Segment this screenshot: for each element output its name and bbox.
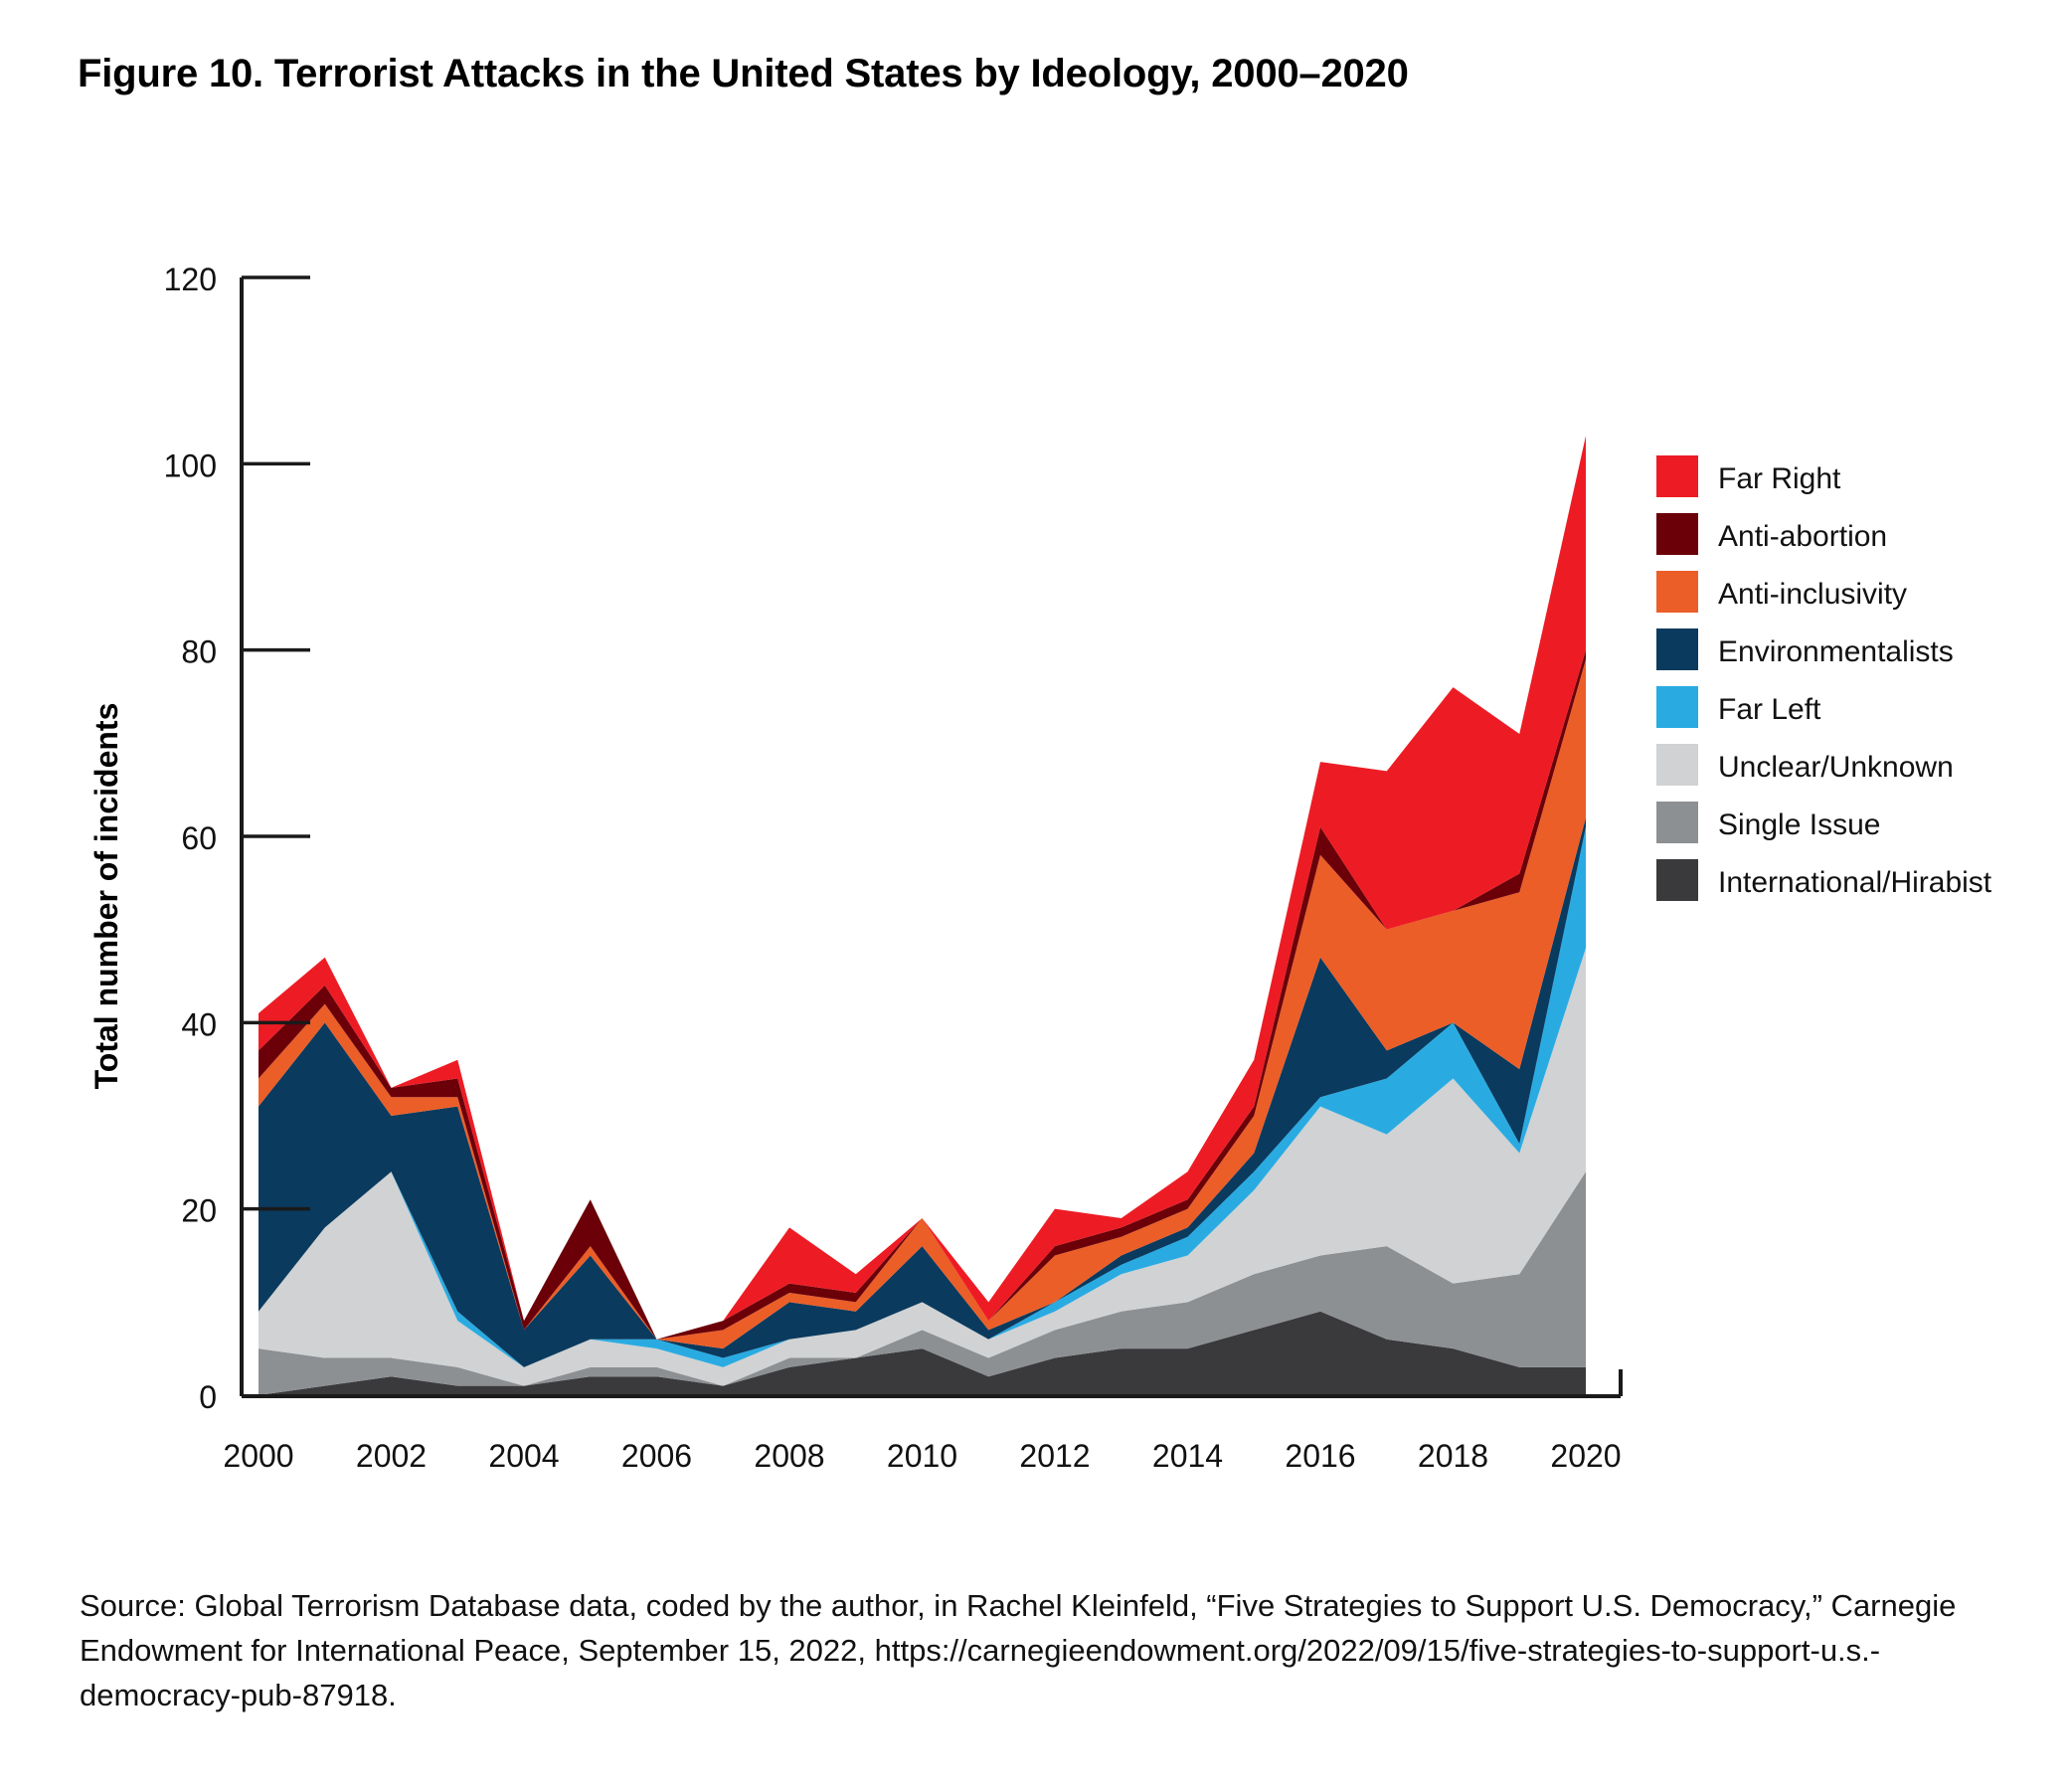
- legend-swatch: [1656, 513, 1698, 555]
- chart-series-layer: [259, 436, 1586, 1395]
- legend-item-label: Anti-abortion: [1718, 520, 1887, 553]
- x-axis-tick-label: 2000: [223, 1438, 293, 1474]
- legend-item-label: Anti-inclusivity: [1718, 578, 1907, 611]
- legend-swatch: [1656, 628, 1698, 670]
- x-axis-tick-label: 2008: [754, 1438, 824, 1474]
- y-axis-tick-label: 20: [181, 1193, 217, 1229]
- y-axis-tick-label: 60: [181, 820, 217, 856]
- x-axis-tick-label: 2002: [356, 1438, 427, 1474]
- legend-swatch: [1656, 802, 1698, 843]
- y-axis-tick-label: 40: [181, 1006, 217, 1042]
- y-axis-tick-label: 80: [181, 634, 217, 670]
- y-axis-tick-label: 0: [199, 1379, 217, 1415]
- x-axis-tick-label: 2016: [1285, 1438, 1355, 1474]
- source-note: Source: Global Terrorism Database data, …: [80, 1583, 2008, 1717]
- legend-swatch: [1656, 859, 1698, 901]
- x-axis-tick-label: 2006: [621, 1438, 692, 1474]
- legend-item-label: Environmentalists: [1718, 635, 1954, 668]
- legend-item-label: Far Right: [1718, 462, 1841, 495]
- stacked-area-chart: 0204060801001202000200220042006200820102…: [0, 0, 2072, 1512]
- legend-swatch: [1656, 571, 1698, 613]
- x-axis-tick-label: 2004: [488, 1438, 559, 1474]
- x-axis-tick-label: 2020: [1550, 1438, 1621, 1474]
- x-axis-tick-label: 2014: [1152, 1438, 1223, 1474]
- y-axis-title: Total number of incidents: [88, 703, 124, 1090]
- x-axis-tick-label: 2012: [1019, 1438, 1090, 1474]
- chart-container: 0204060801001202000200220042006200820102…: [0, 0, 2072, 1512]
- legend-item-label: Far Left: [1718, 693, 1821, 726]
- y-axis-tick-label: 100: [164, 448, 217, 483]
- legend-swatch: [1656, 744, 1698, 786]
- y-axis-title-text: Total number of incidents: [88, 703, 124, 1090]
- legend-swatch: [1656, 686, 1698, 728]
- chart-legend: Far RightAnti-abortionAnti-inclusivityEn…: [1656, 455, 1992, 901]
- legend-item-label: International/Hirabist: [1718, 866, 1992, 899]
- x-axis-tick-label: 2018: [1418, 1438, 1488, 1474]
- x-axis-tick-label: 2010: [887, 1438, 957, 1474]
- legend-item-label: Single Issue: [1718, 808, 1880, 841]
- legend-item-label: Unclear/Unknown: [1718, 751, 1954, 784]
- y-axis-tick-label: 120: [164, 262, 217, 297]
- legend-swatch: [1656, 455, 1698, 497]
